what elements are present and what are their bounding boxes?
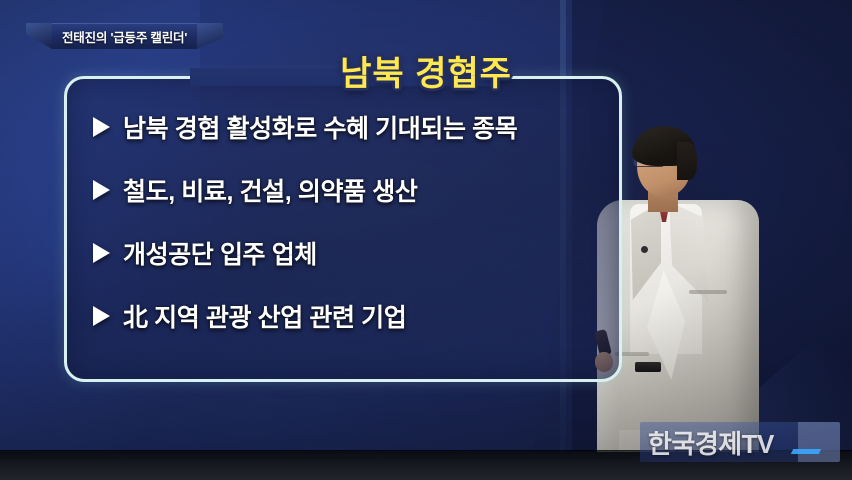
list-item-label: 개성공단 입주 업체 (123, 235, 317, 271)
broadcast-screen: 전태진의 '급등주 캘린더' 남북 경협 활성화로 수혜 기대되는 종목 철도,… (0, 0, 852, 480)
page-title: 남북 경협주 (0, 46, 852, 95)
channel-logo-label: 한국경제TV (640, 424, 774, 461)
list-item-label: 北 지역 관광 산업 관련 기업 (123, 298, 406, 334)
channel-logo: 한국경제TV (640, 422, 840, 462)
list-item-label: 남북 경협 활성화로 수혜 기대되는 종목 (123, 109, 517, 145)
list-item: 철도, 비료, 건설, 의약품 생산 (93, 172, 605, 208)
list-item: 北 지역 관광 산업 관련 기업 (93, 298, 605, 334)
list-item-label: 철도, 비료, 건설, 의약품 생산 (123, 172, 417, 208)
list-item: 남북 경협 활성화로 수혜 기대되는 종목 (93, 109, 605, 145)
triangle-right-icon (93, 117, 110, 137)
triangle-right-icon (93, 180, 110, 200)
bullet-list: 남북 경협 활성화로 수혜 기대되는 종목 철도, 비료, 건설, 의약품 생산… (93, 109, 605, 334)
list-item: 개성공단 입주 업체 (93, 235, 605, 271)
triangle-right-icon (93, 243, 110, 263)
channel-logo-swatch (798, 422, 840, 462)
channel-logo-accent-bar (791, 449, 821, 454)
content-panel: 남북 경협 활성화로 수혜 기대되는 종목 철도, 비료, 건설, 의약품 생산… (64, 76, 622, 382)
triangle-right-icon (93, 306, 110, 326)
program-banner-label: 전태진의 '급등주 캘린더' (62, 27, 187, 46)
